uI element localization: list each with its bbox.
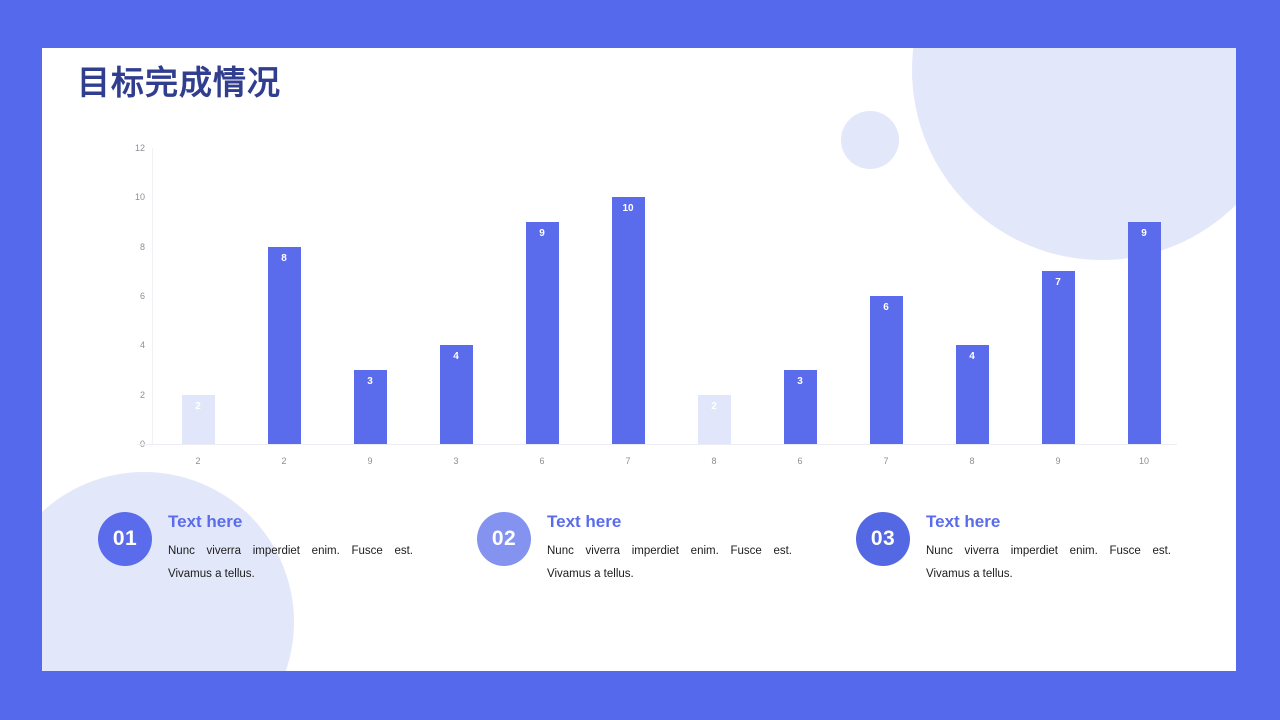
x-axis-tick: 7 bbox=[612, 456, 645, 466]
y-axis-tick: 6 bbox=[105, 291, 145, 301]
bar-column[interactable]: 9 bbox=[1128, 148, 1161, 444]
bar-value-label: 3 bbox=[784, 376, 817, 387]
bar-value-label: 8 bbox=[268, 253, 301, 264]
feature-item-02[interactable]: 02 Text here Nunc viverra imperdiet enim… bbox=[477, 500, 857, 620]
feature-item-01[interactable]: 01 Text here Nunc viverra imperdiet enim… bbox=[98, 500, 478, 620]
bar-value-label: 4 bbox=[440, 351, 473, 362]
bar-value-label: 7 bbox=[1042, 277, 1075, 288]
bar[interactable]: 4 bbox=[956, 345, 989, 444]
bar[interactable]: 9 bbox=[526, 222, 559, 444]
x-axis-line bbox=[137, 444, 1177, 445]
x-axis-tick: 10 bbox=[1128, 456, 1161, 466]
bar-value-label: 4 bbox=[956, 351, 989, 362]
bar-column[interactable]: 4 bbox=[956, 148, 989, 444]
bar-value-label: 2 bbox=[698, 401, 731, 412]
feature-badge: 03 bbox=[856, 512, 910, 566]
slide-root: 目标完成情况 121086420 22823943961072836674879… bbox=[0, 0, 1280, 720]
plot-area: 22823943961072836674879910 bbox=[155, 148, 1187, 444]
bar-column[interactable]: 4 bbox=[440, 148, 473, 444]
bar-value-label: 3 bbox=[354, 376, 387, 387]
bar-value-label: 9 bbox=[526, 228, 559, 239]
bar-column[interactable]: 2 bbox=[182, 148, 215, 444]
feature-heading: Text here bbox=[168, 512, 468, 532]
feature-badge: 01 bbox=[98, 512, 152, 566]
bar-column[interactable]: 2 bbox=[698, 148, 731, 444]
bar-column[interactable]: 9 bbox=[526, 148, 559, 444]
bar[interactable]: 8 bbox=[268, 247, 301, 444]
x-axis-tick: 2 bbox=[268, 456, 301, 466]
x-axis-tick: 8 bbox=[956, 456, 989, 466]
feature-heading: Text here bbox=[547, 512, 847, 532]
bar-value-label: 10 bbox=[612, 203, 645, 214]
y-axis-tick: 4 bbox=[105, 340, 145, 350]
bar[interactable]: 9 bbox=[1128, 222, 1161, 444]
x-axis-tick: 8 bbox=[698, 456, 731, 466]
feature-body: Text here Nunc viverra imperdiet enim. F… bbox=[547, 512, 847, 585]
bar[interactable]: 7 bbox=[1042, 271, 1075, 444]
bar-value-label: 9 bbox=[1128, 228, 1161, 239]
feature-description: Nunc viverra imperdiet enim. Fusce est. … bbox=[168, 540, 413, 585]
bar-chart: 121086420 22823943961072836674879910 bbox=[87, 148, 1187, 518]
bar[interactable]: 2 bbox=[182, 395, 215, 444]
feature-description: Nunc viverra imperdiet enim. Fusce est. … bbox=[547, 540, 792, 585]
feature-item-03[interactable]: 03 Text here Nunc viverra imperdiet enim… bbox=[856, 500, 1236, 620]
bar[interactable]: 4 bbox=[440, 345, 473, 444]
bar[interactable]: 2 bbox=[698, 395, 731, 444]
bar-column[interactable]: 3 bbox=[784, 148, 817, 444]
x-axis-tick: 9 bbox=[354, 456, 387, 466]
y-axis-tick: 10 bbox=[105, 192, 145, 202]
page-title: 目标完成情况 bbox=[77, 60, 281, 106]
feature-description: Nunc viverra imperdiet enim. Fusce est. … bbox=[926, 540, 1171, 585]
bar[interactable]: 6 bbox=[870, 296, 903, 444]
bar-column[interactable]: 3 bbox=[354, 148, 387, 444]
y-axis-tick: 8 bbox=[105, 242, 145, 252]
y-axis-line bbox=[152, 148, 153, 444]
x-axis-tick: 3 bbox=[440, 456, 473, 466]
bar-column[interactable]: 8 bbox=[268, 148, 301, 444]
feature-body: Text here Nunc viverra imperdiet enim. F… bbox=[168, 512, 468, 585]
feature-body: Text here Nunc viverra imperdiet enim. F… bbox=[926, 512, 1226, 585]
bar[interactable]: 3 bbox=[784, 370, 817, 444]
bar-column[interactable]: 10 bbox=[612, 148, 645, 444]
y-axis-tick: 2 bbox=[105, 390, 145, 400]
feature-list: 01 Text here Nunc viverra imperdiet enim… bbox=[42, 500, 1236, 660]
bar-value-label: 2 bbox=[182, 401, 215, 412]
x-axis-tick: 2 bbox=[182, 456, 215, 466]
y-axis: 121086420 bbox=[87, 148, 155, 444]
x-axis-tick: 6 bbox=[784, 456, 817, 466]
bar-column[interactable]: 7 bbox=[1042, 148, 1075, 444]
bar[interactable]: 3 bbox=[354, 370, 387, 444]
content-card: 目标完成情况 121086420 22823943961072836674879… bbox=[42, 48, 1236, 671]
feature-badge: 02 bbox=[477, 512, 531, 566]
bar[interactable]: 10 bbox=[612, 197, 645, 444]
x-axis-tick: 7 bbox=[870, 456, 903, 466]
feature-heading: Text here bbox=[926, 512, 1226, 532]
bar-value-label: 6 bbox=[870, 302, 903, 313]
y-axis-tick: 12 bbox=[105, 143, 145, 153]
x-axis-tick: 6 bbox=[526, 456, 559, 466]
bar-column[interactable]: 6 bbox=[870, 148, 903, 444]
x-axis-tick: 9 bbox=[1042, 456, 1075, 466]
